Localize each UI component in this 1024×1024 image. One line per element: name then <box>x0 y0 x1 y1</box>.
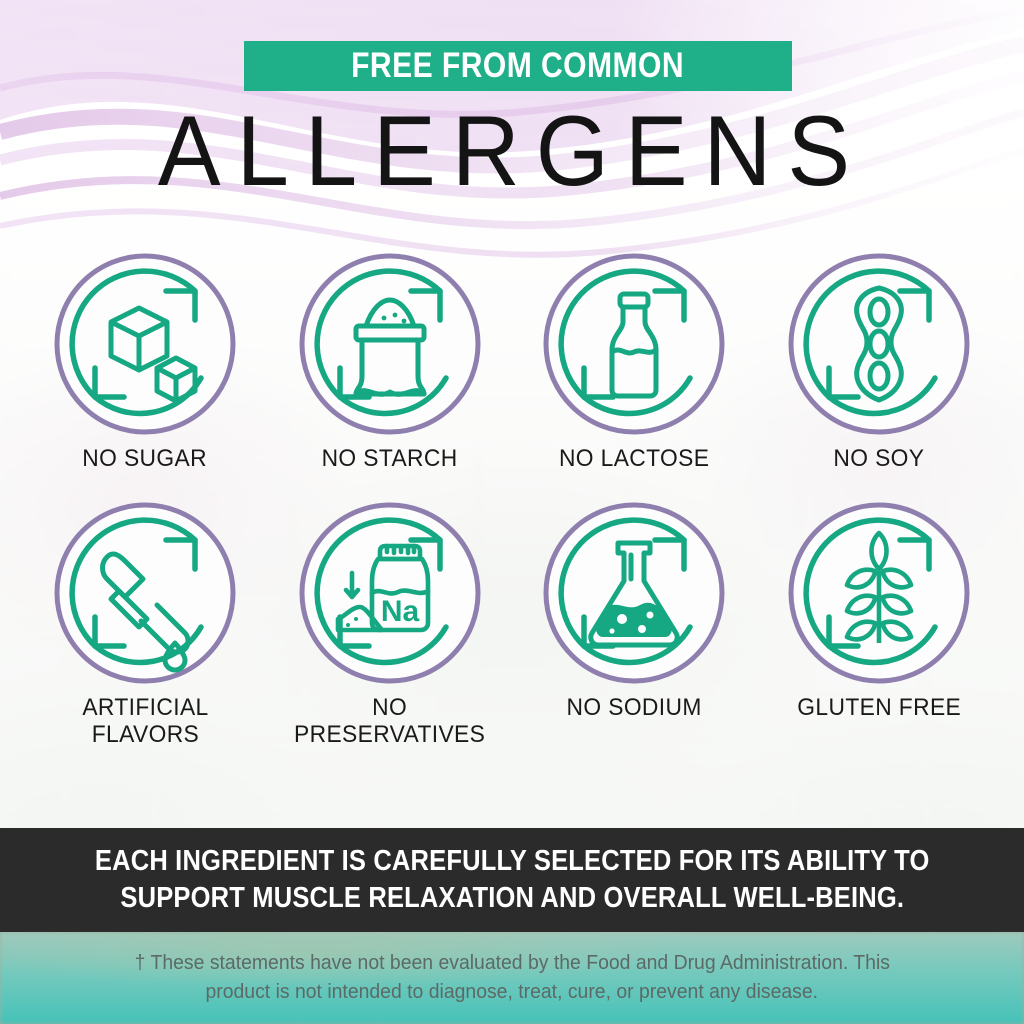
badge-label: ARTIFICIAL FLAVORS <box>82 695 208 749</box>
disclaimer-line-2: product is not intended to diagnose, tre… <box>206 978 819 1007</box>
badge-circle <box>783 497 975 689</box>
badge-label: NO LACTOSE <box>559 446 709 473</box>
badge-label: NO SODIUM <box>567 695 702 722</box>
badge-no-sodium: NO SODIUM <box>527 497 741 749</box>
page-title: ALLERGENS <box>0 101 1024 201</box>
badge-label: NO SUGAR <box>83 446 208 473</box>
badge-no-preservatives: Na NO PRESERVATIVES <box>283 497 497 749</box>
badge-label: NO SOY <box>833 446 924 473</box>
allergen-infographic: FREE FROM COMMON ALLERGENS <box>0 0 1024 1024</box>
badge-no-sugar: NO SUGAR <box>38 248 252 473</box>
statement-line-2: SUPPORT MUSCLE RELAXATION AND OVERALL WE… <box>120 880 904 917</box>
badge-label: GLUTEN FREE <box>797 695 961 722</box>
badge-circle <box>49 248 241 440</box>
svg-text:Na: Na <box>380 595 419 628</box>
badge-grid: NO SUGAR <box>0 248 1024 749</box>
badge-row-1: NO SUGAR <box>0 248 1024 473</box>
statement-line-1: EACH INGREDIENT IS CAREFULLY SELECTED FO… <box>95 843 930 880</box>
badge-circle <box>538 248 730 440</box>
badge-label: NO STARCH <box>322 446 458 473</box>
disclaimer-section: † These statements have not been evaluat… <box>0 932 1024 1024</box>
badge-circle <box>49 497 241 689</box>
badge-circle <box>294 248 486 440</box>
badge-no-soy: NO SOY <box>772 248 986 473</box>
kicker-banner: FREE FROM COMMON <box>244 41 792 91</box>
badge-label: NO PRESERVATIVES <box>294 695 485 749</box>
badge-row-2: ARTIFICIAL FLAVORS <box>0 497 1024 749</box>
badge-no-starch: NO STARCH <box>283 248 497 473</box>
badge-circle <box>538 497 730 689</box>
badge-no-lactose: NO LACTOSE <box>527 248 741 473</box>
badge-circle <box>783 248 975 440</box>
badge-circle: Na <box>294 497 486 689</box>
statement-banner: EACH INGREDIENT IS CAREFULLY SELECTED FO… <box>0 828 1024 932</box>
badge-artificial-flavors: ARTIFICIAL FLAVORS <box>38 497 252 749</box>
kicker-text: FREE FROM COMMON <box>352 46 685 86</box>
disclaimer-line-1: † These statements have not been evaluat… <box>134 949 889 978</box>
badge-gluten-free: GLUTEN FREE <box>772 497 986 749</box>
